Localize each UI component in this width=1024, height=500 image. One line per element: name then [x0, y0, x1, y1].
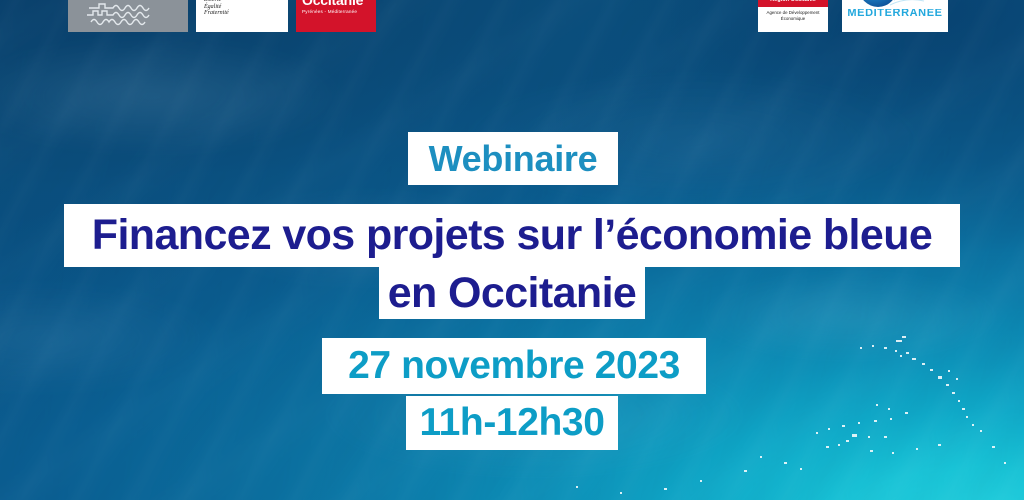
region-occitanie-line2: Occitanie	[302, 0, 371, 8]
kicker-band: Webinaire	[408, 132, 618, 185]
adocc-logo-header: AD'OCC Région Occitanie	[758, 0, 828, 7]
event-date: 27 novembre 2023	[348, 344, 680, 388]
time-band: 11h-12h30	[406, 396, 618, 450]
partner-logo-strip: OCCITANIE Liberté Égalité Fraternité La …	[0, 0, 1024, 32]
adocc-tagline: Agence de Développement Économique	[758, 7, 828, 23]
title-band-line2: en Occitanie	[379, 267, 645, 319]
adocc-logo: AD'OCC Région Occitanie Agence de Dévelo…	[758, 0, 828, 32]
page-title-line2: en Occitanie	[388, 269, 637, 318]
webinar-poster: OCCITANIE Liberté Égalité Fraternité La …	[0, 0, 1024, 500]
event-time: 11h-12h30	[419, 401, 604, 445]
title-band-line1: Financez vos projets sur l’économie bleu…	[64, 204, 960, 267]
motto-line-fraternite: Fraternité	[204, 10, 282, 17]
adocc-tagline-line2: Économique	[760, 16, 826, 22]
date-band: 27 novembre 2023	[322, 338, 706, 394]
pole-mer-globe-icon	[842, 0, 948, 9]
prefecture-occitanie-logo: OCCITANIE Liberté Égalité Fraternité	[196, 0, 288, 32]
adocc-tagline-line1: Agence de Développement	[760, 10, 826, 16]
motto-line-egalite: Égalité	[204, 4, 282, 11]
wave-lines-icon	[85, 1, 171, 27]
region-occitanie-line3: Pyrénées - Méditerranée	[302, 9, 371, 15]
pole-mer-globe-svg	[842, 0, 948, 9]
french-motto: Liberté Égalité Fraternité	[204, 0, 282, 17]
republique-francaise-logo	[68, 0, 188, 32]
region-occitanie-logo: La Région Occitanie Pyrénées - Méditerra…	[296, 0, 376, 32]
adocc-region: Région Occitanie	[760, 0, 826, 4]
pole-mer-mediterranee-logo: MÉDITERRANÉE	[842, 0, 948, 32]
kicker-text: Webinaire	[429, 138, 598, 180]
page-title-line1: Financez vos projets sur l’économie bleu…	[92, 211, 932, 260]
